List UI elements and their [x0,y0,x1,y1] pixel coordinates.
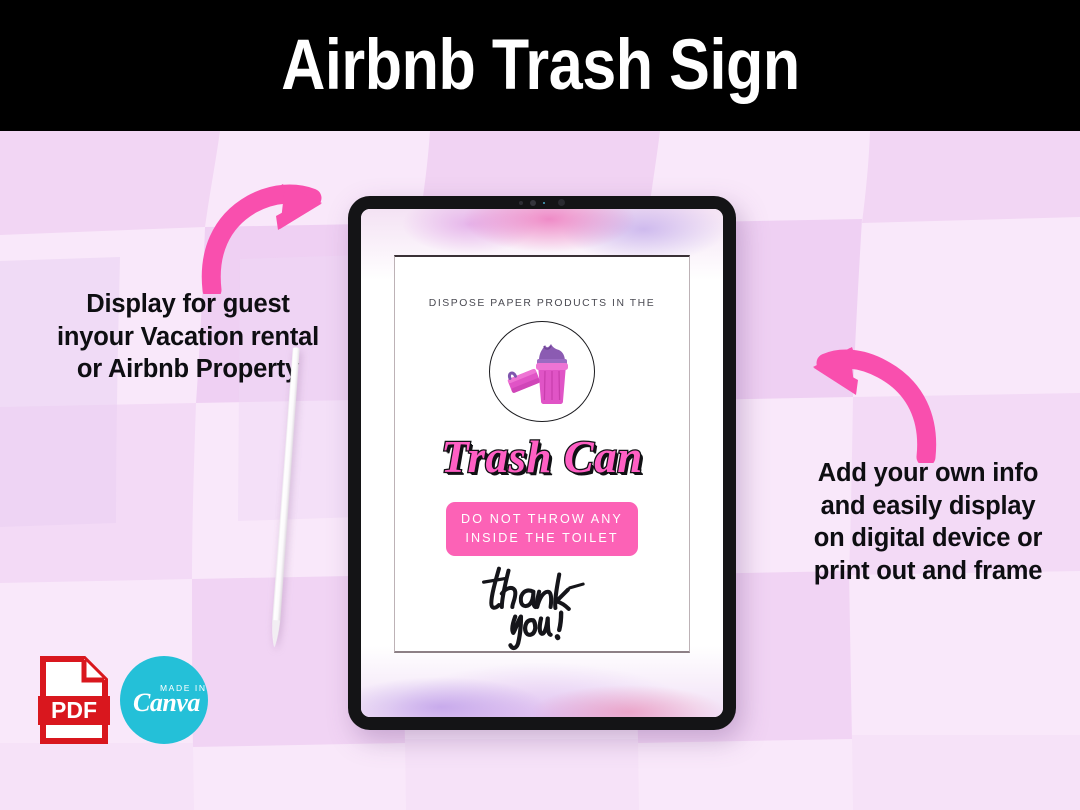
front-camera-icon [558,199,565,206]
caption-right: Add your own info and easily display on … [806,457,1050,588]
poster-warning-badge: DO NOT THROW ANY INSIDE THE TOILET [446,502,638,556]
poster-artwork[interactable]: DISPOSE PAPER PRODUCTS IN THE [394,255,690,653]
curved-arrow-right-icon [190,182,325,294]
format-badges: PDF MADE IN Canva [38,655,208,745]
pdf-file-badge: PDF [38,655,110,745]
poster-eyebrow-text: DISPOSE PAPER PRODUCTS IN THE [429,298,655,309]
curved-arrow-left-icon [808,345,944,463]
made-in-canva-badge: MADE IN Canva [120,656,208,744]
tablet-front-sensors [348,196,736,209]
pdf-icon: PDF [38,655,110,745]
thank-you-script [467,563,617,651]
sensor-dot [543,202,545,204]
page-title: Airbnb Trash Sign [281,30,800,101]
poster-emblem-circle [489,321,595,422]
tablet-device: DISPOSE PAPER PRODUCTS IN THE [348,196,736,730]
sensor-dot [519,201,523,205]
poster-badge-line-2: INSIDE THE TOILET [461,529,623,547]
canva-wordmark: Canva [133,688,200,718]
tablet-screen[interactable]: DISPOSE PAPER PRODUCTS IN THE [361,209,723,717]
poster-badge-line-1: DO NOT THROW ANY [461,510,623,528]
pdf-label: PDF [51,697,97,723]
listing-image: Display for guest inyour Vacation rental… [0,0,1080,810]
trash-can-icon [505,337,579,407]
header-banner: Airbnb Trash Sign [0,0,1080,131]
poster-title: Trash Can [441,435,643,480]
sensor-dot [530,200,536,206]
